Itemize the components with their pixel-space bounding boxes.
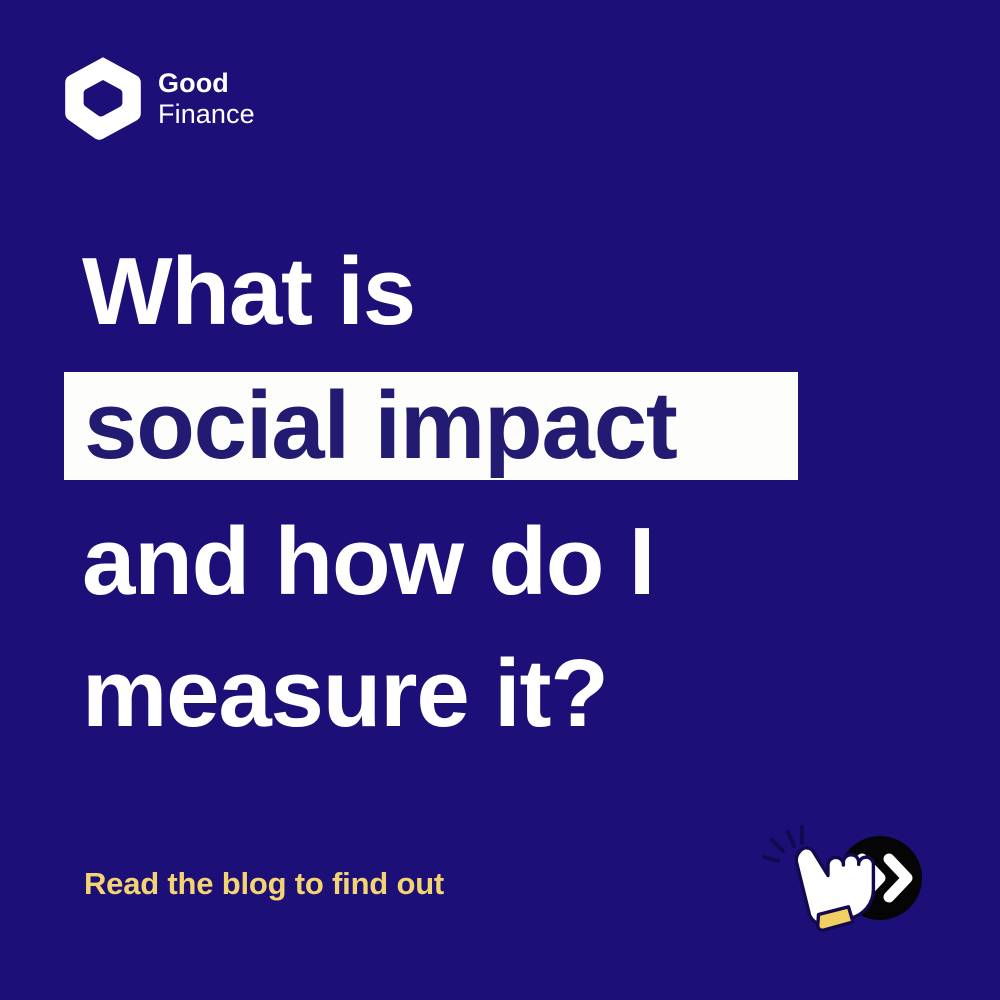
- brand-wordmark: Good Finance: [158, 66, 255, 131]
- social-post-canvas: Good Finance What is social impact and h…: [0, 0, 1000, 1000]
- headline-line-4: measure it?: [64, 628, 924, 760]
- headline-line-3: and how do I: [64, 496, 924, 628]
- click-through-graphic[interactable]: [752, 818, 932, 948]
- cta-label[interactable]: Read the blog to find out: [84, 866, 444, 902]
- headline-line-1: What is: [64, 226, 924, 358]
- hexagon-ring-icon: [62, 54, 144, 142]
- headline-line-2-wrapper: social impact: [64, 360, 924, 492]
- brand-word-finance: Finance: [158, 99, 255, 130]
- brand-logo[interactable]: Good Finance: [62, 54, 255, 142]
- headline-highlight: social impact: [64, 372, 798, 480]
- headline: What is social impact and how do I measu…: [64, 226, 924, 760]
- brand-word-good: Good: [158, 68, 255, 99]
- pointing-hand-cursor-icon: [796, 848, 873, 930]
- click-graphic-svg: [752, 818, 932, 948]
